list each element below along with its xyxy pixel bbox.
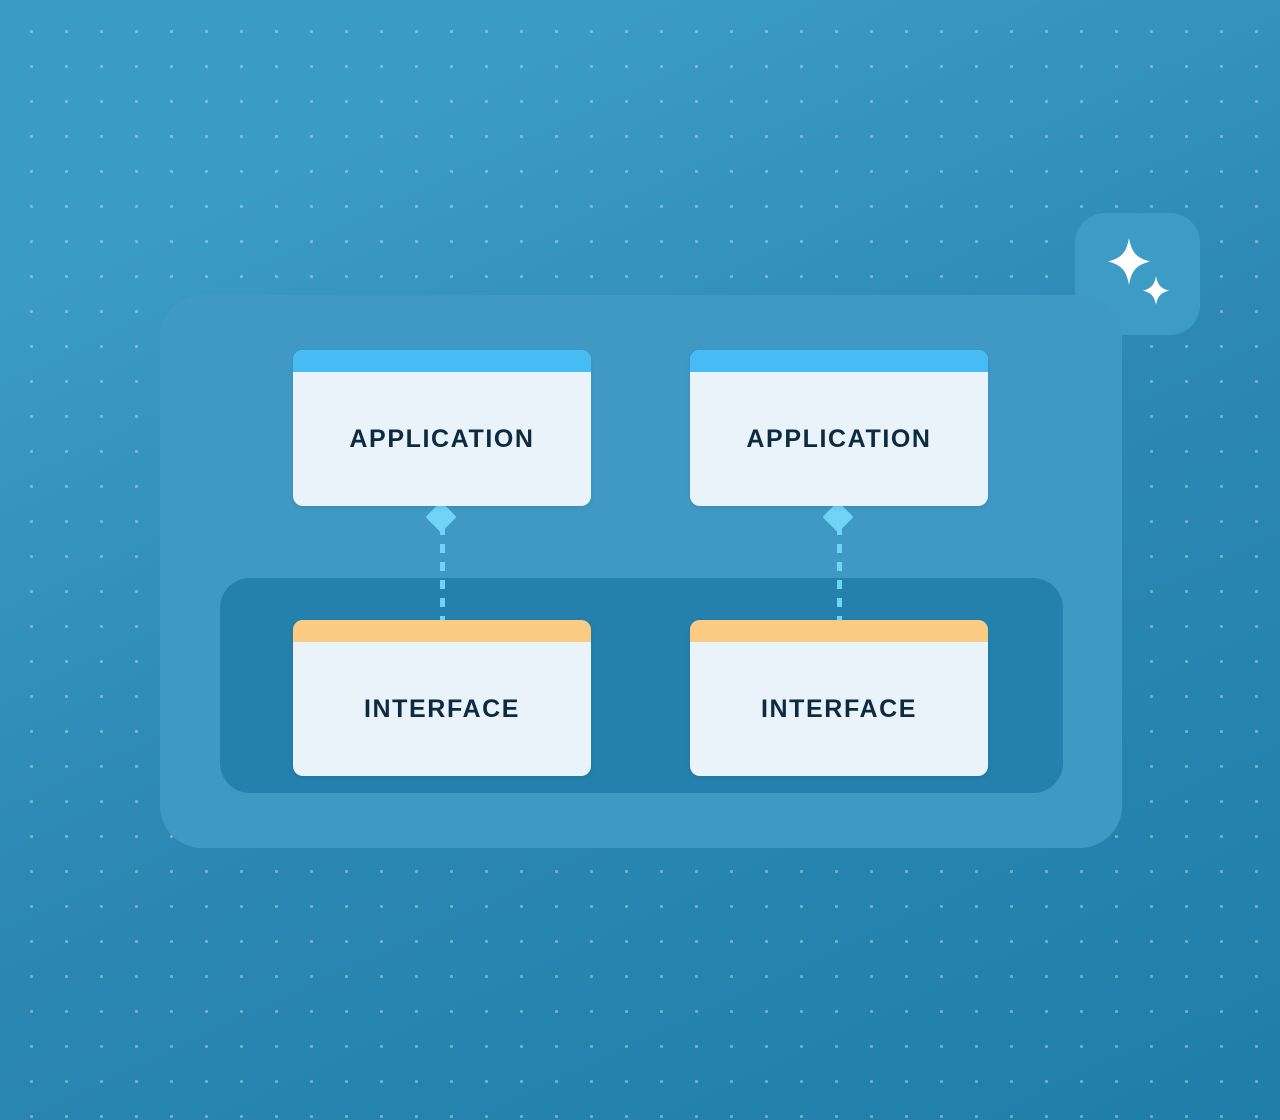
connector-application-1-to-interface-1 xyxy=(429,506,453,625)
diagram-canvas: APPLICATION APPLICATION INTERFACE INTERF… xyxy=(0,0,1280,1120)
node-label: APPLICATION xyxy=(293,372,591,506)
node-accent-bar xyxy=(293,620,591,642)
node-interface-2[interactable]: INTERFACE xyxy=(690,620,988,776)
node-application-1[interactable]: APPLICATION xyxy=(293,350,591,506)
dotted-line xyxy=(837,526,842,626)
node-accent-bar xyxy=(293,350,591,372)
dotted-line xyxy=(440,526,445,626)
connector-application-2-to-interface-2 xyxy=(826,506,850,625)
node-label: INTERFACE xyxy=(293,642,591,776)
node-accent-bar xyxy=(690,620,988,642)
outer-card: APPLICATION APPLICATION INTERFACE INTERF… xyxy=(160,295,1122,848)
node-accent-bar xyxy=(690,350,988,372)
node-interface-1[interactable]: INTERFACE xyxy=(293,620,591,776)
sparkles-icon xyxy=(1103,238,1173,310)
node-label: INTERFACE xyxy=(690,642,988,776)
node-application-2[interactable]: APPLICATION xyxy=(690,350,988,506)
node-label: APPLICATION xyxy=(690,372,988,506)
